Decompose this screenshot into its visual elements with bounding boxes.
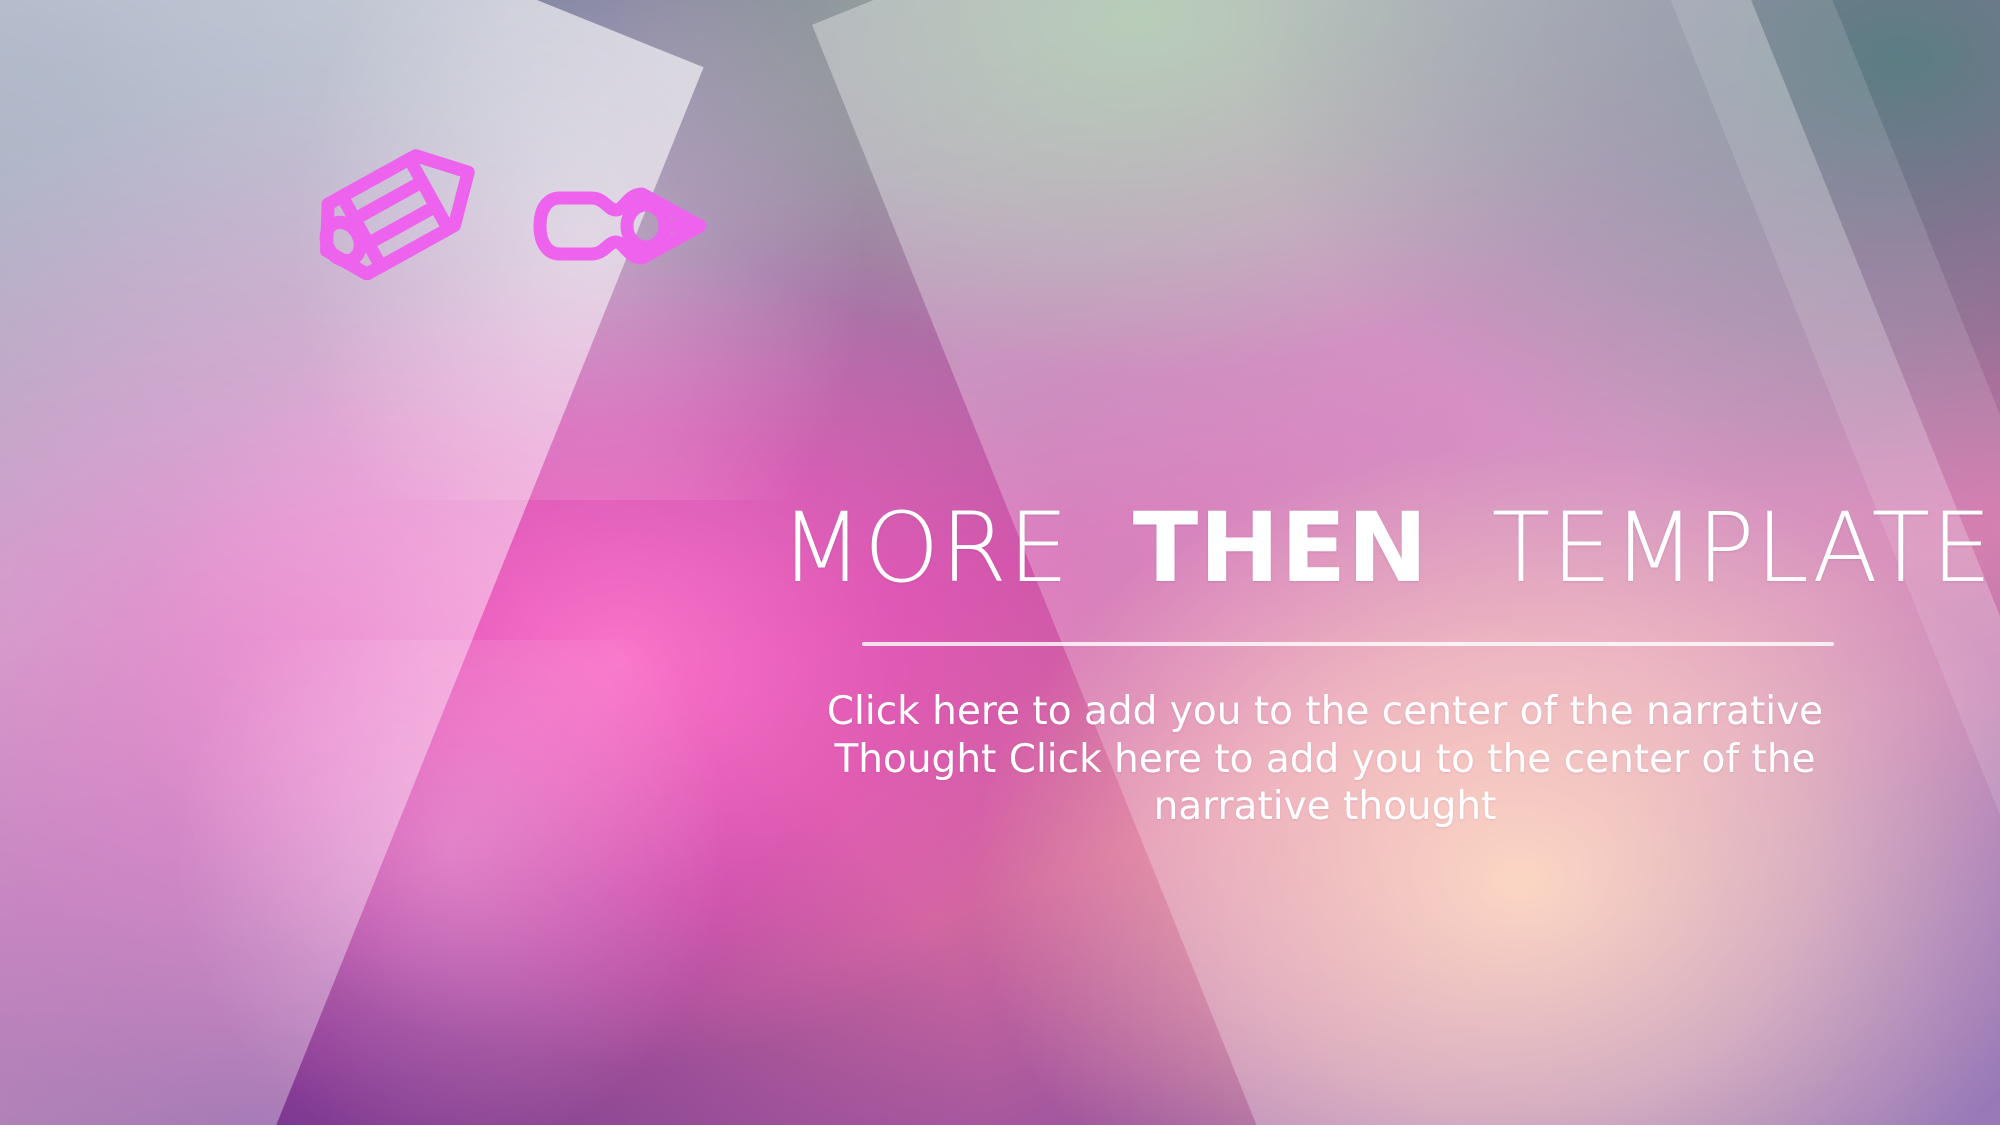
- pen-nib-icon: [530, 176, 710, 276]
- title-part-three: TEMPLATE: [1492, 492, 1993, 604]
- presentation-slide: MORE THEN TEMPLATE Click here to add you…: [0, 0, 2000, 1125]
- page-title: MORE THEN TEMPLATE: [780, 500, 1870, 596]
- decorative-icon-group: [300, 140, 770, 300]
- slide-text-content: MORE THEN TEMPLATE Click here to add you…: [780, 500, 1870, 831]
- body-line-2: Thought Click here to add you to the cen…: [780, 736, 1870, 784]
- body-line-1: Click here to add you to the center of t…: [780, 688, 1870, 736]
- title-part-emphasis: THEN: [1133, 492, 1429, 604]
- pencil-icon: [300, 140, 500, 280]
- body-text: Click here to add you to the center of t…: [780, 688, 1870, 831]
- body-line-3: narrative thought: [780, 783, 1870, 831]
- title-divider: [862, 642, 1834, 646]
- title-part-one: MORE: [780, 492, 1070, 604]
